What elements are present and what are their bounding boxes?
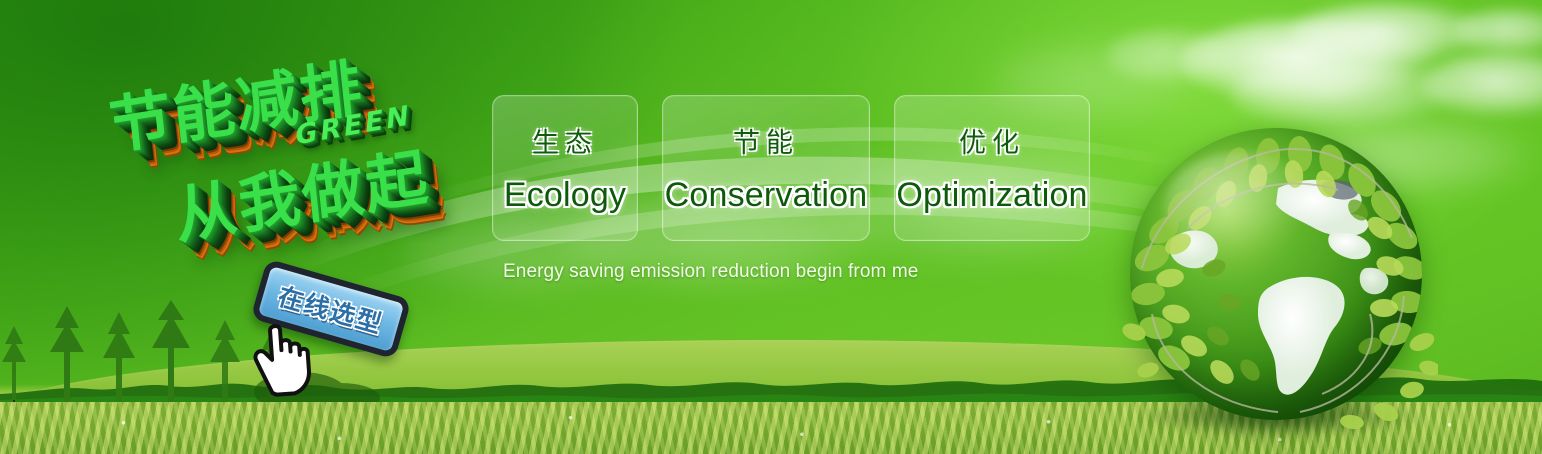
feature-card-cn-label: 节能 [733,121,799,160]
main-logo: 节能减排 GREEN 从我做起 [89,18,512,298]
feature-card-en-label: Optimization [896,176,1087,215]
feature-card-en-label: Conservation [665,176,868,215]
cloud-icon [1180,18,1440,104]
feature-card-list: 生态 Ecology 节能 Conservation 优化 Optimizati… [492,95,1090,241]
globe-highlight [1164,152,1314,262]
pointing-hand-cursor-icon [245,316,322,401]
banner-root: 节能减排 GREEN 从我做起 在线选型 生态 Ecology 节能 Conse… [0,0,1542,454]
leafy-earth-globe-icon [1118,118,1438,436]
feature-card-optimization[interactable]: 优化 Optimization [894,95,1090,241]
banner-subtitle: Energy saving emission reduction begin f… [503,261,918,283]
feature-card-ecology[interactable]: 生态 Ecology [492,95,638,241]
feature-card-cn-label: 生态 [532,121,598,160]
feature-card-cn-label: 优化 [959,121,1025,160]
cloud-icon [1420,52,1542,118]
cloud-icon [1105,28,1235,86]
feature-card-en-label: Ecology [504,176,626,215]
cloud-icon [1452,8,1542,56]
cloud-icon [1290,2,1490,66]
feature-card-conservation[interactable]: 节能 Conservation [662,95,870,241]
